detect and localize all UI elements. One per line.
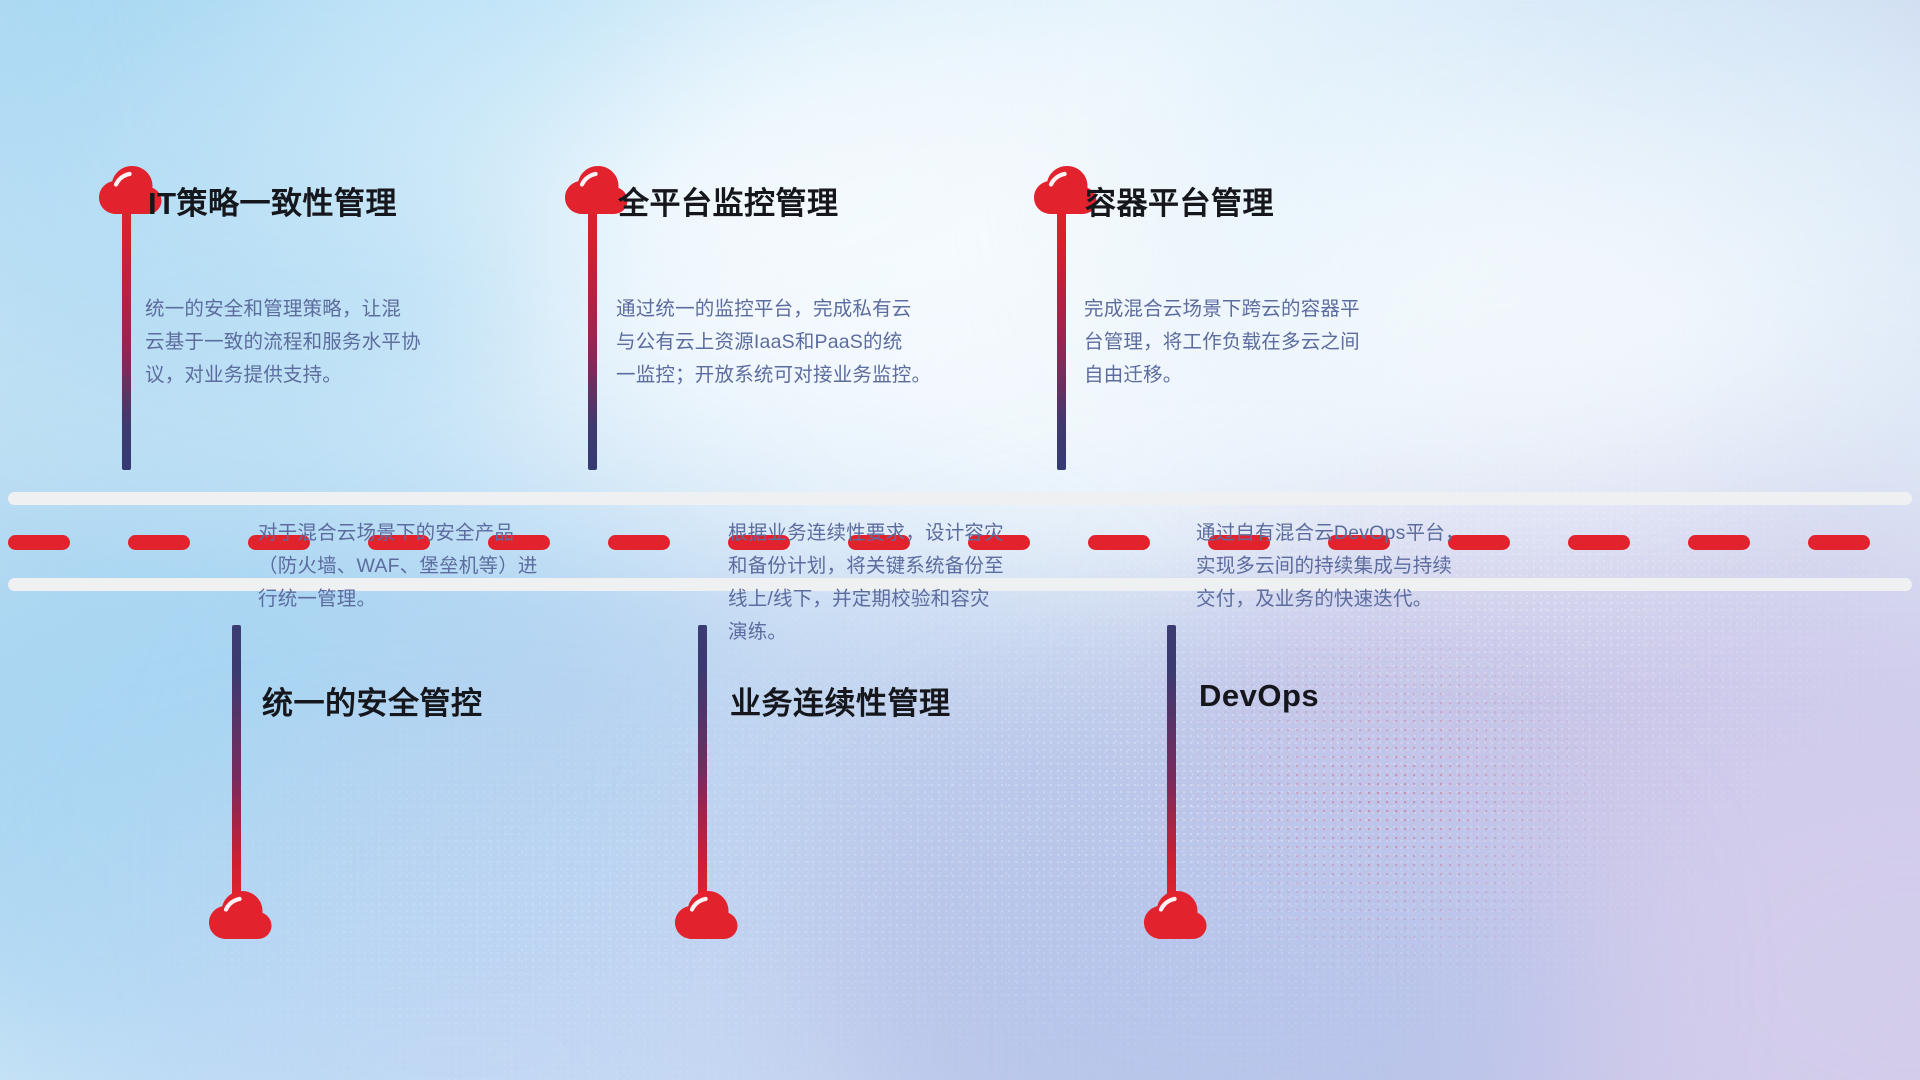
item-title: 业务连续性管理 [730, 678, 951, 723]
separator-dash [8, 535, 70, 550]
item-title: IT策略一致性管理 [148, 178, 397, 223]
infographic-canvas: IT策略一致性管理 统一的安全和管理策略，让混 云基于一致的流程和服务水平协 议… [0, 0, 1920, 1080]
stem-line [698, 625, 707, 903]
stem-line [1167, 625, 1176, 903]
cloud-icon [1141, 885, 1209, 941]
separator-dash [1688, 535, 1750, 550]
stem-line [1057, 196, 1066, 470]
pin-marker-6 [1141, 625, 1209, 940]
cloud-icon [672, 885, 740, 941]
separator-dash [1088, 535, 1150, 550]
separator-dash [1808, 535, 1870, 550]
separator-bar-top [8, 492, 1912, 505]
item-description: 完成混合云场景下跨云的容器平 台管理，将工作负载在多云之间 自由迁移。 [1084, 293, 1444, 392]
item-description: 对于混合云场景下的安全产品 （防火墙、WAF、堡垒机等）进 行统一管理。 [258, 517, 618, 616]
separator-dash [1568, 535, 1630, 550]
item-description: 通过统一的监控平台，完成私有云 与公有云上资源IaaS和PaaS的统 一监控；开… [616, 293, 986, 392]
cloud-icon [206, 885, 274, 941]
item-description: 通过自有混合云DevOps平台， 实现多云间的持续集成与持续 交付，及业务的快速… [1196, 517, 1546, 616]
item-title: DevOps [1199, 678, 1319, 714]
item-description: 根据业务连续性要求，设计容灾 和备份计划，将关键系统备份至 线上/线下，并定期校… [728, 517, 1088, 649]
item-description: 统一的安全和管理策略，让混 云基于一致的流程和服务水平协 议，对业务提供支持。 [145, 293, 490, 392]
item-title: 全平台监控管理 [618, 178, 839, 223]
pin-marker-5 [672, 625, 740, 940]
stem-line [232, 625, 241, 903]
item-title: 容器平台管理 [1085, 178, 1274, 223]
separator-dash [128, 535, 190, 550]
stem-line [588, 196, 597, 470]
stem-line [122, 196, 131, 470]
pin-marker-4 [206, 625, 274, 940]
item-title: 统一的安全管控 [262, 678, 483, 723]
